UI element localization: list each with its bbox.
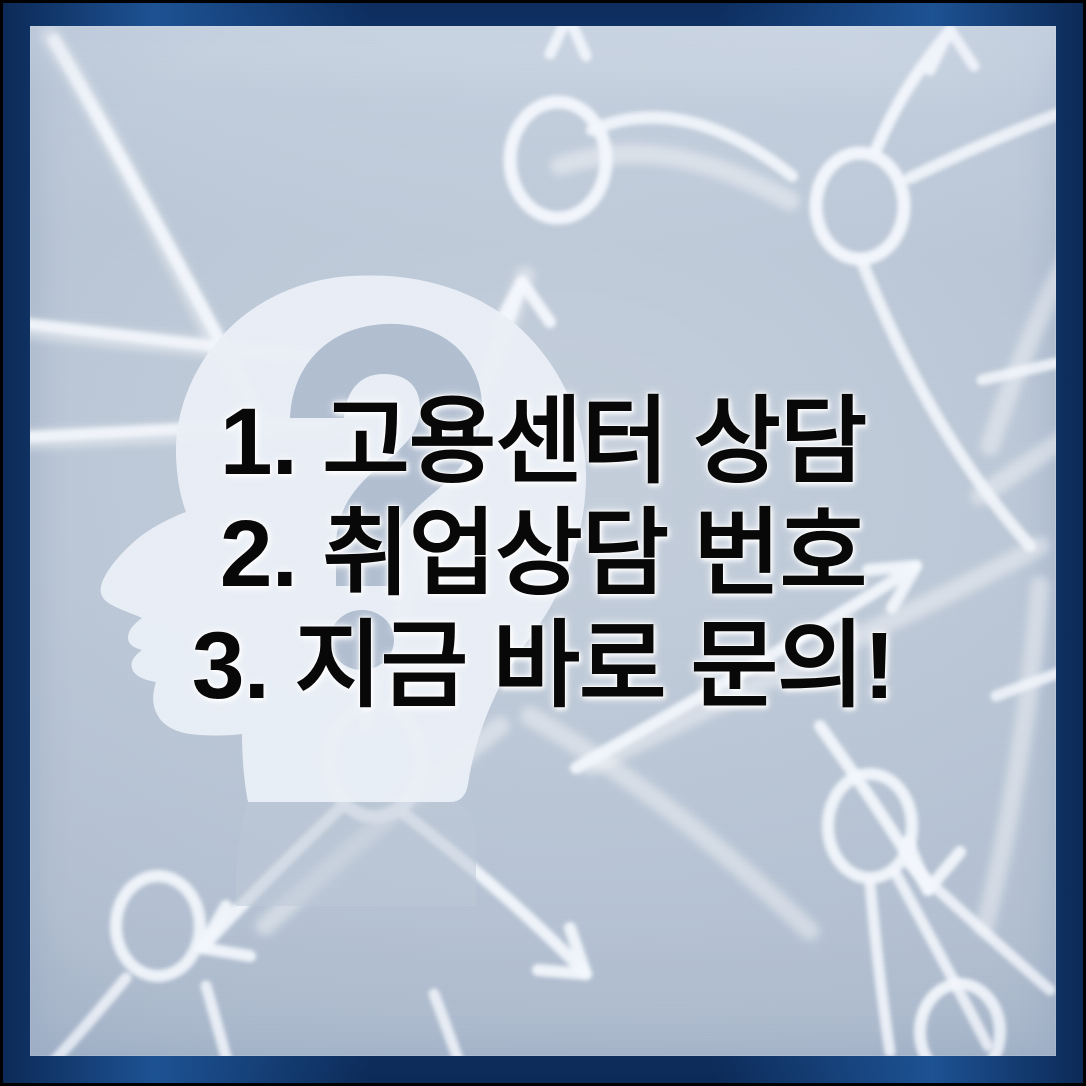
artwork-plate bbox=[30, 26, 1056, 1056]
poster-canvas: 1. 고용센터 상담 2. 취업상담 번호 3. 지금 바로 문의! bbox=[0, 0, 1086, 1086]
thinking-head-icon bbox=[30, 26, 1056, 1056]
head-neck-shadow bbox=[236, 802, 476, 906]
